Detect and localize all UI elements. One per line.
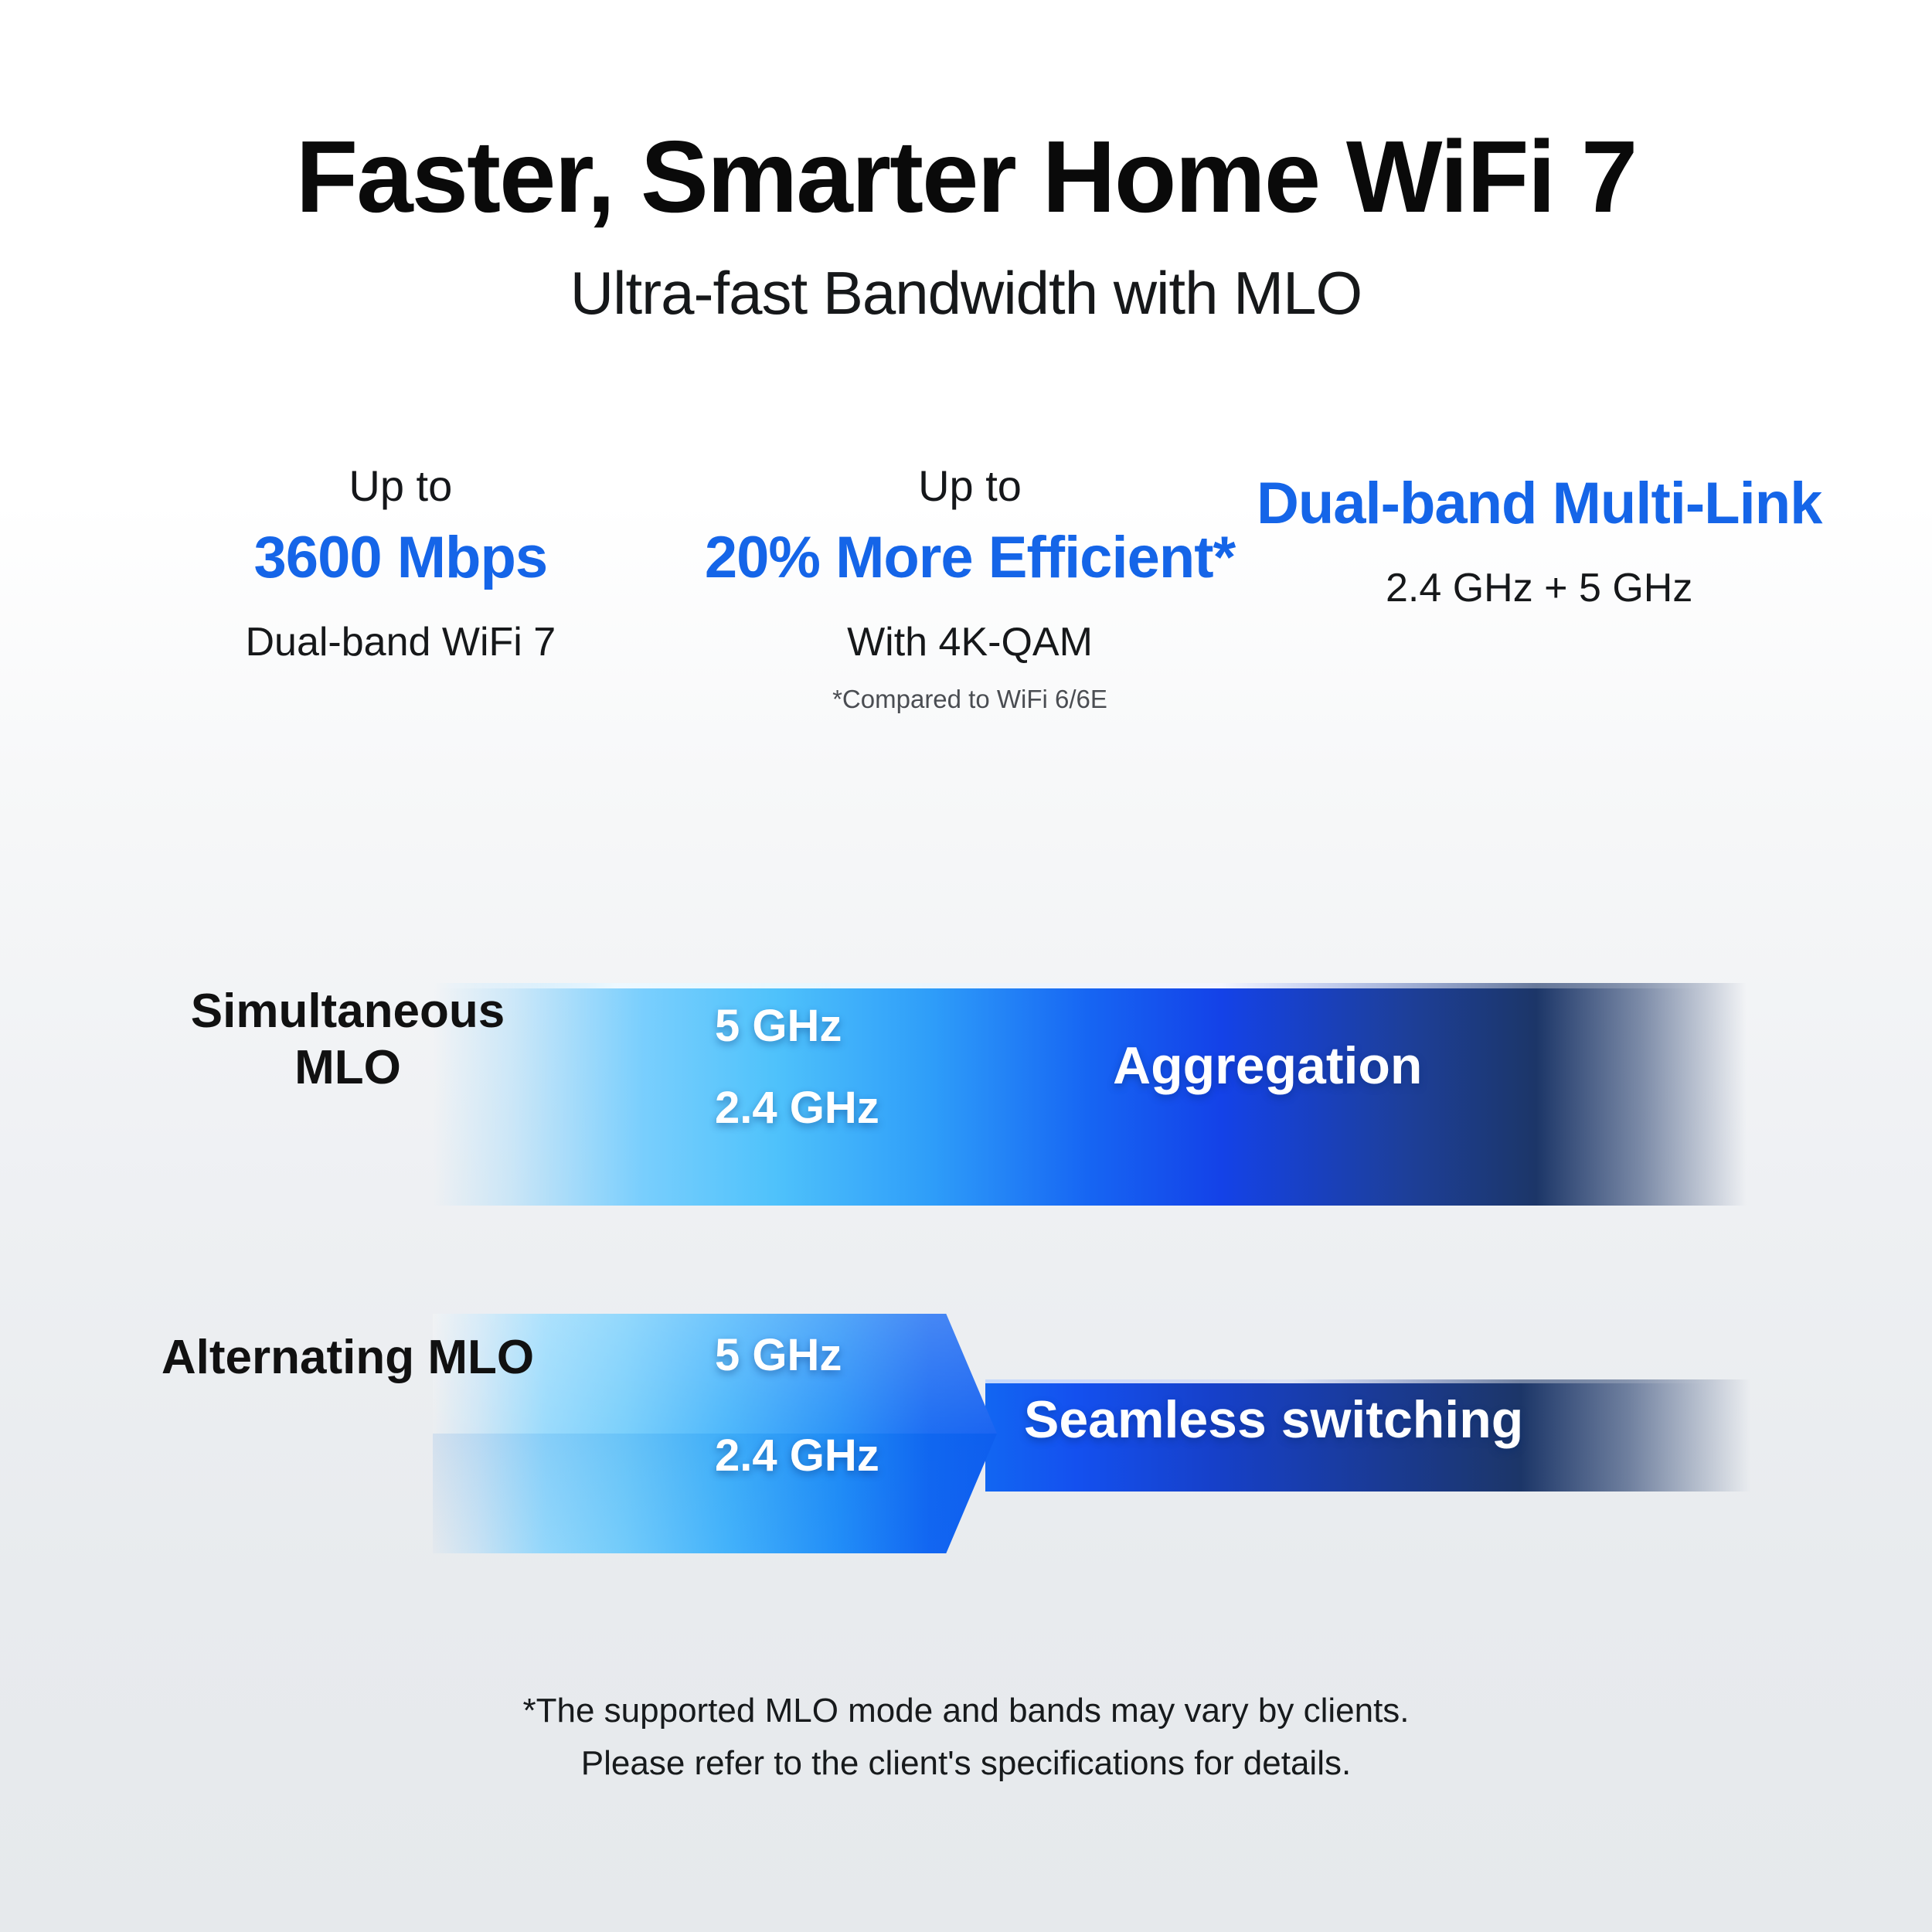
band-label-24ghz: 2.4 GHz bbox=[715, 1430, 879, 1481]
footnotes: *The supported MLO mode and bands may va… bbox=[0, 1685, 1932, 1790]
mlo-row-label: Simultaneous MLO bbox=[131, 983, 564, 1096]
header: Faster, Smarter Home WiFi 7 Ultra-fast B… bbox=[0, 124, 1932, 326]
footnote-line-2: Please refer to the client's specificati… bbox=[0, 1737, 1932, 1790]
stat-card-multilink: Dual-band Multi-Link 2.4 GHz + 5 GHz bbox=[1254, 460, 1824, 662]
stat-value: 20% More Efficient* bbox=[685, 525, 1255, 590]
stat-note: *Compared to WiFi 6/6E bbox=[685, 684, 1255, 716]
mlo-callout-seamless-switching: Seamless switching bbox=[1024, 1389, 1523, 1450]
page-subtitle: Ultra-fast Bandwidth with MLO bbox=[0, 260, 1932, 327]
stat-description: With 4K-QAM bbox=[685, 618, 1255, 666]
mlo-row-label: Alternating MLO bbox=[131, 1329, 564, 1386]
mlo-diagram: Simultaneous MLO 5 GHz 2.4 GHz Aggregati… bbox=[0, 889, 1932, 1584]
stat-value: Dual-band Multi-Link bbox=[1254, 471, 1824, 536]
stat-eyebrow: Up to bbox=[116, 460, 685, 514]
promo-page: Faster, Smarter Home WiFi 7 Ultra-fast B… bbox=[0, 0, 1932, 1932]
stat-eyebrow: Up to bbox=[685, 460, 1255, 514]
band-label-5ghz: 5 GHz bbox=[715, 1000, 842, 1052]
stat-value: 3600 Mbps bbox=[116, 525, 685, 590]
mlo-row-alternating: Alternating MLO 5 GHz 2.4 GHz Seamless s… bbox=[0, 1275, 1932, 1507]
footnote-line-1: *The supported MLO mode and bands may va… bbox=[0, 1685, 1932, 1737]
mlo-row-simultaneous: Simultaneous MLO 5 GHz 2.4 GHz Aggregati… bbox=[0, 935, 1932, 1167]
mlo-callout-aggregation: Aggregation bbox=[1113, 1036, 1422, 1096]
aggregation-band-graphic bbox=[433, 983, 1747, 1206]
band-label-5ghz: 5 GHz bbox=[715, 1329, 842, 1381]
stat-card-speed: Up to 3600 Mbps Dual-band WiFi 7 bbox=[116, 460, 685, 716]
stat-description: Dual-band WiFi 7 bbox=[116, 618, 685, 666]
stat-card-efficiency: Up to 20% More Efficient* With 4K-QAM *C… bbox=[685, 460, 1255, 716]
stats-row: Up to 3600 Mbps Dual-band WiFi 7 Up to 2… bbox=[116, 460, 1824, 716]
band-label-24ghz: 2.4 GHz bbox=[715, 1082, 879, 1134]
stat-description: 2.4 GHz + 5 GHz bbox=[1254, 564, 1824, 612]
page-title: Faster, Smarter Home WiFi 7 bbox=[0, 124, 1932, 231]
